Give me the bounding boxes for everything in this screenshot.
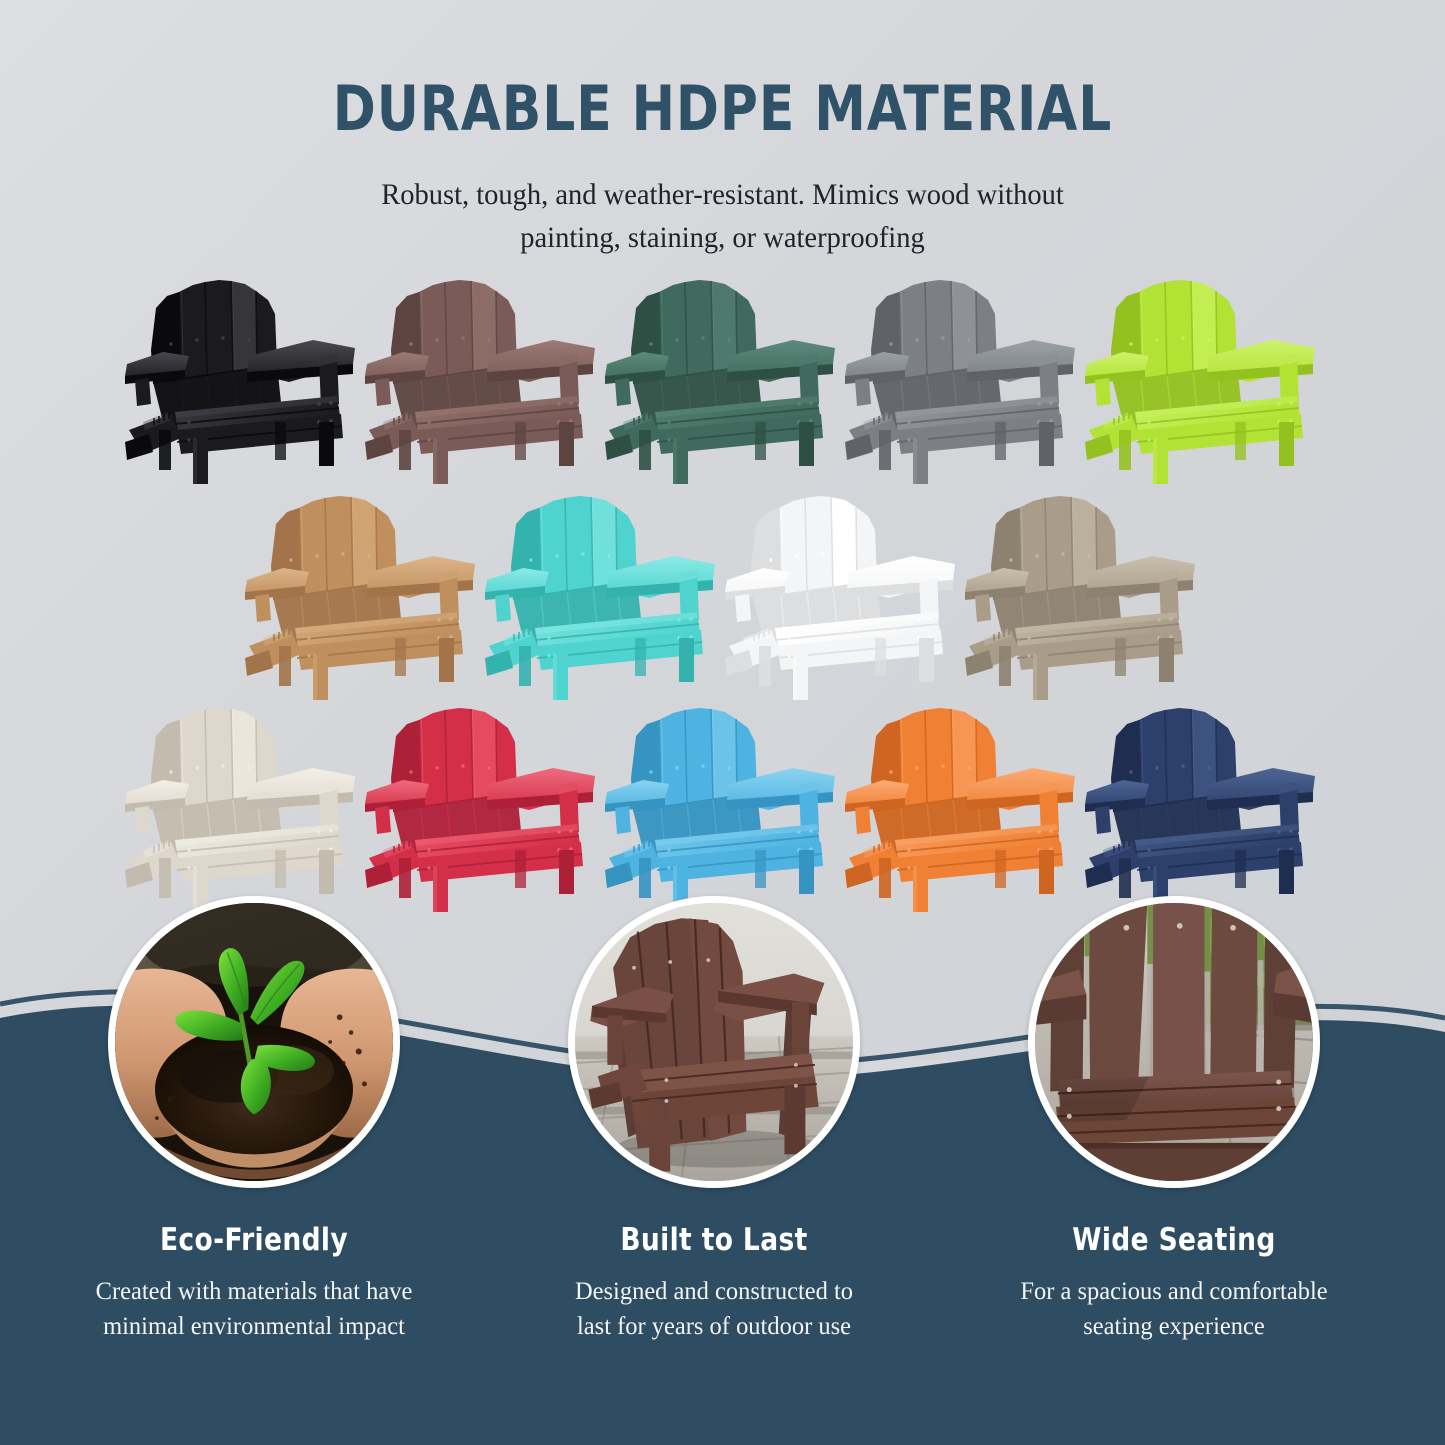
adirondack-chair-icon	[1083, 272, 1323, 484]
feature-title: Eco-Friendly	[31, 1222, 478, 1258]
adirondack-chair-icon	[963, 488, 1203, 700]
adirondack-chair-icon	[483, 488, 723, 700]
closeup-wide-seat-image	[1035, 903, 1313, 1181]
feature-text-wide-seating: Wide Seating For a spacious and comforta…	[939, 1222, 1409, 1343]
feature-description-line-2: last for years of outdoor use	[488, 1309, 939, 1344]
chair-color-row-1	[0, 272, 1445, 484]
feature-text-eco-friendly: Eco-Friendly Created with materials that…	[19, 1222, 489, 1343]
chair-swatch-navy-blue[interactable]	[1083, 700, 1323, 912]
chair-swatch-brown[interactable]	[363, 272, 603, 484]
chair-swatch-khaki[interactable]	[963, 488, 1203, 700]
subtitle-line-1: Robust, tough, and weather-resistant. Mi…	[36, 174, 1409, 217]
feature-description: For a spacious and comfortable seating e…	[948, 1274, 1399, 1343]
feature-text-built-to-last: Built to Last Designed and constructed t…	[479, 1222, 949, 1343]
adirondack-chair-icon	[123, 272, 363, 484]
chair-swatch-lime-green[interactable]	[1083, 272, 1323, 484]
chair-color-row-2	[0, 488, 1445, 700]
brown-chair-on-patio-image	[575, 903, 853, 1181]
adirondack-chair-icon	[723, 488, 963, 700]
adirondack-chair-icon	[843, 700, 1083, 912]
adirondack-chair-icon	[1083, 700, 1323, 912]
feature-photo-built-to-last	[568, 896, 860, 1188]
adirondack-chair-icon	[603, 272, 843, 484]
adirondack-chair-icon	[603, 700, 843, 912]
adirondack-chair-icon	[243, 488, 483, 700]
feature-description-line-1: Created with materials that have	[28, 1274, 479, 1309]
adirondack-chair-icon	[363, 272, 603, 484]
chair-swatch-dark-green[interactable]	[603, 272, 843, 484]
heading-block: DURABLE HDPE MATERIAL Robust, tough, and…	[0, 0, 1445, 259]
adirondack-chair-icon	[123, 700, 363, 912]
chair-swatch-light-blue[interactable]	[603, 700, 843, 912]
feature-title: Wide Seating	[951, 1222, 1398, 1258]
chair-swatch-turquoise[interactable]	[483, 488, 723, 700]
feature-description-line-2: minimal environmental impact	[28, 1309, 479, 1344]
chair-swatch-teak[interactable]	[243, 488, 483, 700]
chair-swatch-gray[interactable]	[843, 272, 1083, 484]
feature-description: Designed and constructed to last for yea…	[488, 1274, 939, 1343]
seedling-in-hands-image	[115, 903, 393, 1181]
chair-swatch-white[interactable]	[723, 488, 963, 700]
chair-color-row-3	[0, 700, 1445, 912]
page-title: DURABLE HDPE MATERIAL	[51, 78, 1395, 140]
feature-description: Created with materials that have minimal…	[28, 1274, 479, 1343]
subtitle-line-2: painting, staining, or waterproofing	[36, 217, 1409, 260]
page-subtitle: Robust, tough, and weather-resistant. Mi…	[36, 174, 1409, 259]
adirondack-chair-icon	[843, 272, 1083, 484]
feature-photo-wide-seating	[1028, 896, 1320, 1188]
chair-swatch-red[interactable]	[363, 700, 603, 912]
feature-description-line-1: For a spacious and comfortable	[948, 1274, 1399, 1309]
feature-description-line-1: Designed and constructed to	[488, 1274, 939, 1309]
adirondack-chair-icon	[363, 700, 603, 912]
feature-title: Built to Last	[491, 1222, 938, 1258]
chair-swatch-ivory[interactable]	[123, 700, 363, 912]
feature-photo-eco-friendly	[108, 896, 400, 1188]
chair-swatch-orange[interactable]	[843, 700, 1083, 912]
feature-description-line-2: seating experience	[948, 1309, 1399, 1344]
chair-swatch-black[interactable]	[123, 272, 363, 484]
